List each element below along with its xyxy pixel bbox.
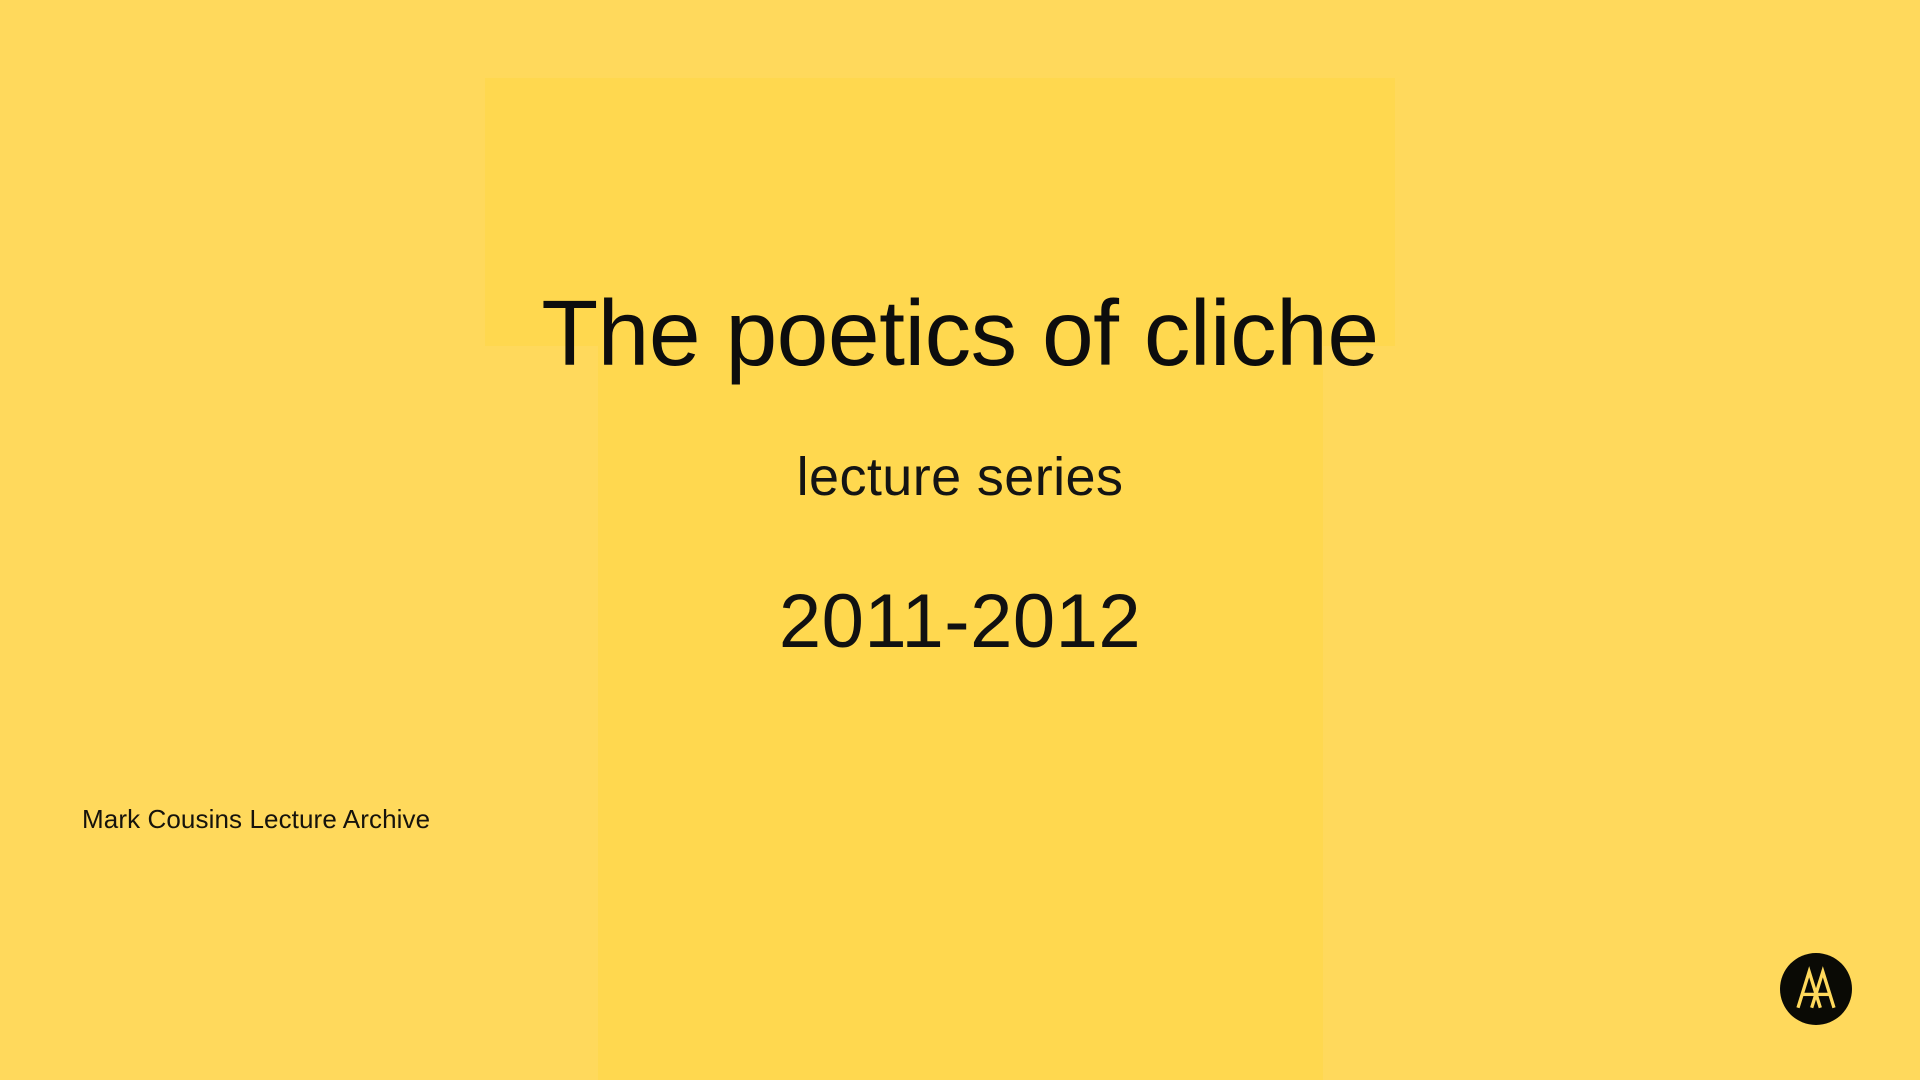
aa-logo <box>1780 953 1852 1025</box>
title-slide: The poetics of cliche lecture series 201… <box>0 0 1920 1080</box>
slide-text-stack: The poetics of cliche lecture series 201… <box>0 0 1920 1080</box>
slide-subtitle: lecture series <box>797 449 1124 506</box>
slide-year-range: 2011-2012 <box>779 582 1141 662</box>
slide-title: The poetics of cliche <box>541 286 1378 381</box>
archive-caption: Mark Cousins Lecture Archive <box>82 804 430 835</box>
